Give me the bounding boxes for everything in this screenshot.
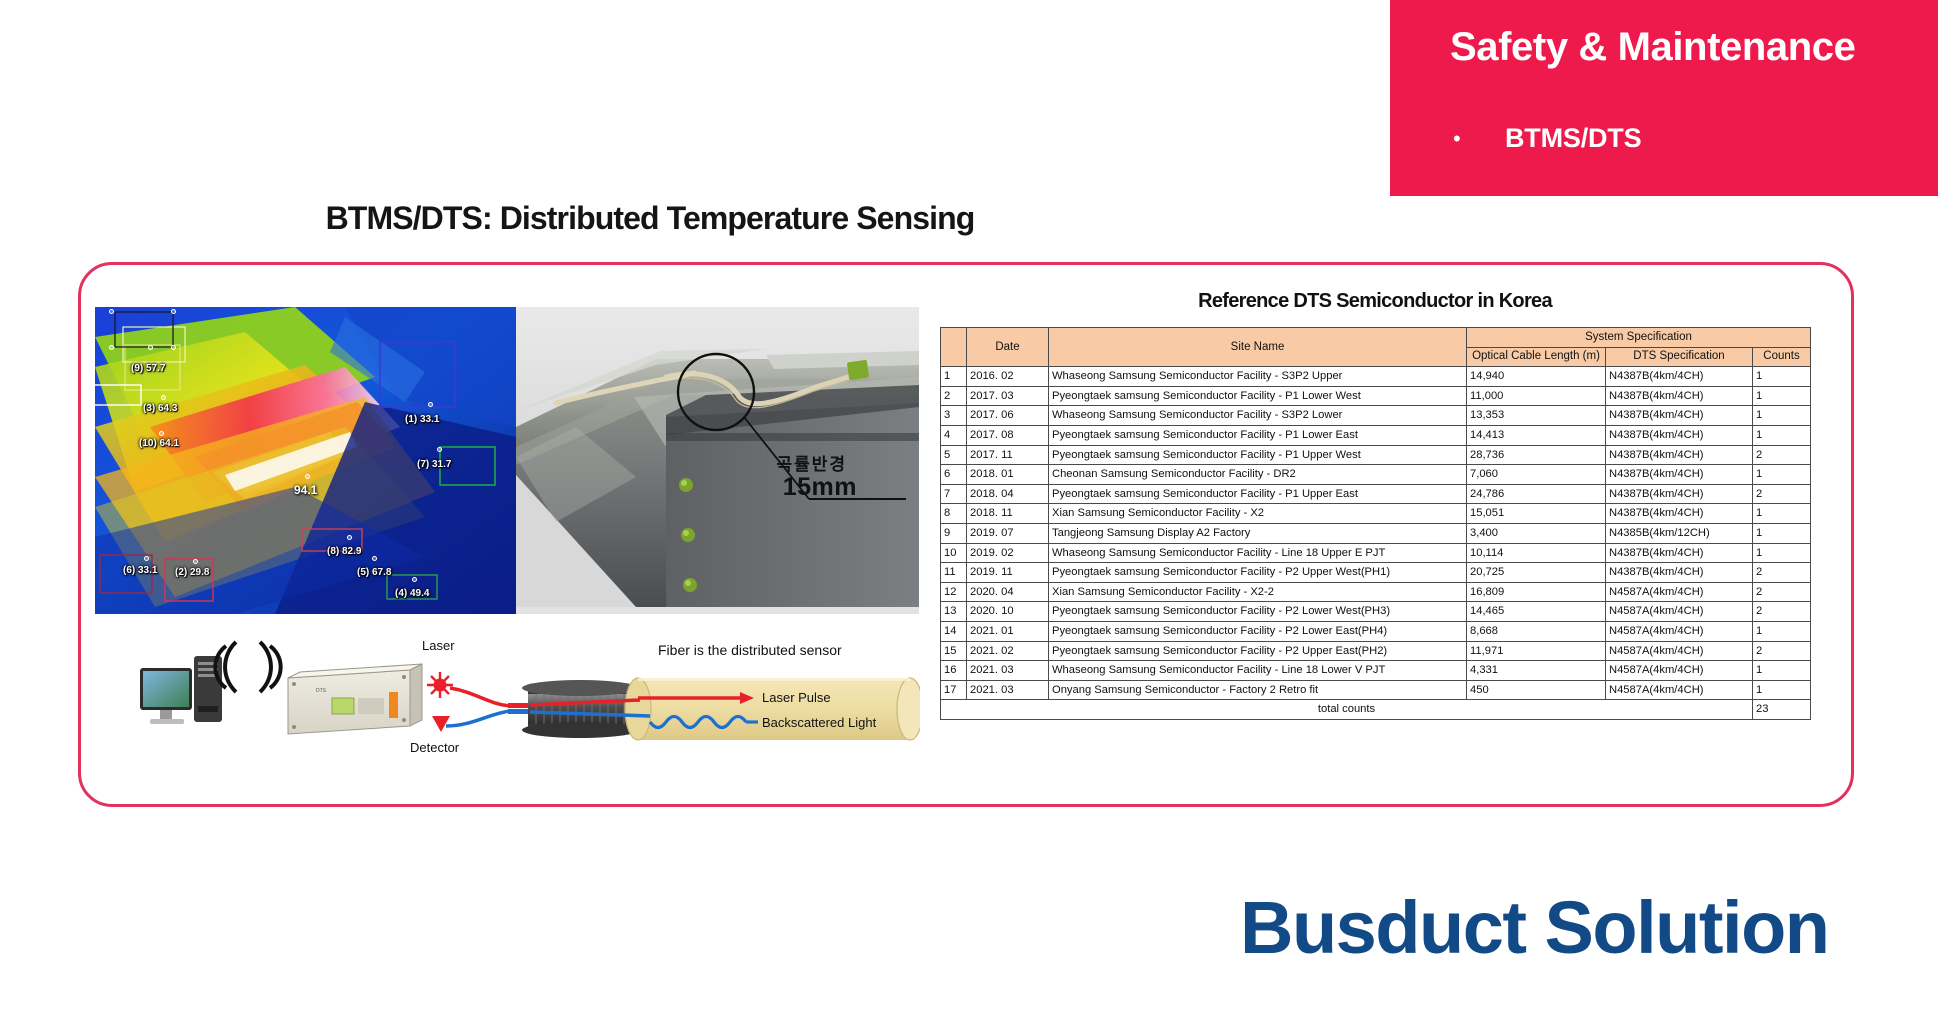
thermal-spot-dot [148,345,153,350]
cell-index: 13 [941,602,967,622]
cell-spec: N4587A(4km/4CH) [1606,680,1753,700]
cell-site: Pyeongtaek samsung Semiconductor Facilit… [1049,621,1467,641]
cell-site: Pyeongtaek samsung Semiconductor Facilit… [1049,484,1467,504]
cell-site: Whaseong Samsung Semiconductor Facility … [1049,367,1467,387]
table-head: Date Site Name System Specification Opti… [941,328,1811,367]
cell-length: 8,668 [1467,621,1606,641]
table-row: 92019. 07Tangjeong Samsung Display A2 Fa… [941,523,1811,543]
cell-date: 2021. 03 [967,680,1049,700]
th-site: Site Name [1049,328,1467,367]
cell-spec: N4387B(4km/4CH) [1606,465,1753,485]
cell-counts: 1 [1753,621,1811,641]
thermal-spot-dot [437,447,442,452]
cell-spec: N4387B(4km/4CH) [1606,563,1753,583]
cell-index: 9 [941,523,967,543]
table-header-row-1: Date Site Name System Specification [941,328,1811,348]
cell-site: Pyeongtaek samsung Semiconductor Facilit… [1049,445,1467,465]
table-row: 32017. 06Whaseong Samsung Semiconductor … [941,406,1811,426]
cell-spec: N4387B(4km/4CH) [1606,367,1753,387]
cell-counts: 1 [1753,661,1811,681]
cell-date: 2020. 10 [967,602,1049,622]
cell-counts: 2 [1753,563,1811,583]
cell-spec: N4587A(4km/4CH) [1606,621,1753,641]
cell-date: 2021. 01 [967,621,1049,641]
cell-counts: 1 [1753,543,1811,563]
th-system-specification: System Specification [1467,328,1811,348]
cell-index: 17 [941,680,967,700]
cell-index: 11 [941,563,967,583]
cell-date: 2017. 08 [967,425,1049,445]
cell-index: 8 [941,504,967,524]
cell-index: 12 [941,582,967,602]
cell-length: 11,000 [1467,386,1606,406]
cell-site: Pyeongtaek samsung Semiconductor Facilit… [1049,425,1467,445]
cell-counts: 1 [1753,425,1811,445]
cell-counts: 1 [1753,465,1811,485]
cell-counts: 1 [1753,680,1811,700]
table-row: 12016. 02Whaseong Samsung Semiconductor … [941,367,1811,387]
cell-spec: N4387B(4km/4CH) [1606,445,1753,465]
detector-label: Detector [410,740,459,755]
thermal-spot-dot [144,556,149,561]
cell-site: Xian Samsung Semiconductor Facility - X2 [1049,504,1467,524]
cell-length: 14,940 [1467,367,1606,387]
cell-site: Onyang Samsung Semiconductor - Factory 2… [1049,680,1467,700]
cell-site: Whaseong Samsung Semiconductor Facility … [1049,543,1467,563]
table-row: 172021. 03Onyang Samsung Semiconductor -… [941,680,1811,700]
cell-length: 11,971 [1467,641,1606,661]
page-title: BTMS/DTS: Distributed Temperature Sensin… [0,200,1300,237]
svg-text:DTS: DTS [316,688,327,694]
cell-index: 7 [941,484,967,504]
slide-canvas: Safety & Maintenance • BTMS/DTS BTMS/DTS… [0,0,1938,1030]
bullet-dot-icon: • [1445,128,1505,150]
cell-length: 24,786 [1467,484,1606,504]
cell-length: 14,465 [1467,602,1606,622]
table-row: 132020. 10Pyeongtaek samsung Semiconduct… [941,602,1811,622]
cell-date: 2017. 03 [967,386,1049,406]
dts-principle-diagram: DTS [110,630,920,775]
cell-spec: N4587A(4km/4CH) [1606,602,1753,622]
fiber-sensor-title: Fiber is the distributed sensor [658,642,842,658]
header-bullet-label: BTMS/DTS [1505,123,1641,154]
cell-length: 4,331 [1467,661,1606,681]
cell-date: 2019. 02 [967,543,1049,563]
cell-index: 3 [941,406,967,426]
cell-site: Cheonan Samsung Semiconductor Facility -… [1049,465,1467,485]
reference-dts-table: Date Site Name System Specification Opti… [940,327,1811,720]
cell-index: 5 [941,445,967,465]
thermal-spot-dot [372,556,377,561]
th-dts-specification: DTS Specification [1606,347,1753,367]
cell-length: 450 [1467,680,1606,700]
cell-counts: 1 [1753,504,1811,524]
cell-site: Pyeongtaek samsung Semiconductor Facilit… [1049,602,1467,622]
thermal-hotspot-value: 94.1 [294,483,317,497]
thermal-spot-dot [428,402,433,407]
thermal-spot-dot [109,309,114,314]
table-body: 12016. 02Whaseong Samsung Semiconductor … [941,367,1811,700]
header-title: Safety & Maintenance [1450,25,1920,70]
cell-counts: 1 [1753,367,1811,387]
cell-counts: 1 [1753,386,1811,406]
cell-spec: N4385B(4km/12CH) [1606,523,1753,543]
cell-length: 3,400 [1467,523,1606,543]
cell-counts: 2 [1753,602,1811,622]
cell-counts: 2 [1753,445,1811,465]
cell-spec: N4387B(4km/4CH) [1606,425,1753,445]
table-row: 52017. 11Pyeongtaek samsung Semiconducto… [941,445,1811,465]
busduct-photo: 곡률반경 15mm [516,307,919,614]
cell-date: 2017. 11 [967,445,1049,465]
cell-date: 2019. 11 [967,563,1049,583]
cell-date: 2017. 06 [967,406,1049,426]
thermal-camera-image: (9) 57.7 (3) 64.3 (10) 64.1 (1) 33.1 (7)… [95,307,516,614]
thermal-spot-dot [171,309,176,314]
th-date: Date [967,328,1049,367]
brand-wordmark: Busduct Solution [1240,885,1930,970]
cell-length: 28,736 [1467,445,1606,465]
table-foot: total counts 23 [941,700,1811,720]
thermal-spot-dot [109,345,114,350]
cell-date: 2021. 03 [967,661,1049,681]
total-counts-row: total counts 23 [941,700,1811,720]
busduct-graphic [516,307,919,614]
radius-annotation-korean: 곡률반경 [776,450,847,475]
cell-index: 6 [941,465,967,485]
thermal-heatmap-graphic [95,307,516,614]
cell-length: 13,353 [1467,406,1606,426]
th-counts: Counts [1753,347,1811,367]
table-row: 62018. 01Cheonan Samsung Semiconductor F… [941,465,1811,485]
cell-date: 2016. 02 [967,367,1049,387]
laser-label: Laser [422,638,455,653]
cell-date: 2021. 02 [967,641,1049,661]
cell-date: 2018. 04 [967,484,1049,504]
header-bullet-item: • BTMS/DTS [1445,123,1915,154]
table-row: 112019. 11Pyeongtaek samsung Semiconduct… [941,563,1811,583]
cell-counts: 2 [1753,641,1811,661]
cell-spec: N4387B(4km/4CH) [1606,504,1753,524]
cell-counts: 1 [1753,523,1811,543]
table-row: 152021. 02Pyeongtaek samsung Semiconduct… [941,641,1811,661]
cell-index: 15 [941,641,967,661]
thermal-spot-dot [193,559,198,564]
cell-index: 16 [941,661,967,681]
total-counts-label: total counts [941,700,1753,720]
cell-spec: N4587A(4km/4CH) [1606,641,1753,661]
cell-site: Pyeongtaek samsung Semiconductor Facilit… [1049,563,1467,583]
table-row: 102019. 02Whaseong Samsung Semiconductor… [941,543,1811,563]
table-row: 82018. 11Xian Samsung Semiconductor Faci… [941,504,1811,524]
thermal-spot-dot [347,535,352,540]
cell-index: 4 [941,425,967,445]
table-row: 42017. 08Pyeongtaek samsung Semiconducto… [941,425,1811,445]
cell-length: 15,051 [1467,504,1606,524]
cell-date: 2020. 04 [967,582,1049,602]
thermal-spot-dot [171,345,176,350]
cell-counts: 2 [1753,484,1811,504]
thermal-spot-dot [159,431,164,436]
radius-annotation-value: 15mm [783,473,857,502]
cell-spec: N4387B(4km/4CH) [1606,484,1753,504]
table-row: 122020. 04Xian Samsung Semiconductor Fac… [941,582,1811,602]
table-title: Reference DTS Semiconductor in Korea [940,290,1810,313]
cell-spec: N4587A(4km/4CH) [1606,582,1753,602]
cell-date: 2018. 11 [967,504,1049,524]
cell-site: Pyeongtaek samsung Semiconductor Facilit… [1049,641,1467,661]
thermal-spot-dot [161,395,166,400]
cell-site: Whaseong Samsung Semiconductor Facility … [1049,406,1467,426]
thermal-spot-dot [412,577,417,582]
cell-length: 14,413 [1467,425,1606,445]
table-row: 22017. 03Pyeongtaek samsung Semiconducto… [941,386,1811,406]
cell-date: 2019. 07 [967,523,1049,543]
backscattered-label: Backscattered Light [762,715,876,730]
laser-pulse-label: Laser Pulse [762,690,831,705]
cell-length: 10,114 [1467,543,1606,563]
table-row: 72018. 04Pyeongtaek samsung Semiconducto… [941,484,1811,504]
cell-index: 1 [941,367,967,387]
th-index [941,328,967,367]
table-row: 142021. 01Pyeongtaek samsung Semiconduct… [941,621,1811,641]
cell-index: 2 [941,386,967,406]
cell-spec: N4587A(4km/4CH) [1606,661,1753,681]
cell-index: 10 [941,543,967,563]
table-row: 162021. 03Whaseong Samsung Semiconductor… [941,661,1811,681]
cell-spec: N4387B(4km/4CH) [1606,406,1753,426]
cell-spec: N4387B(4km/4CH) [1606,386,1753,406]
cell-site: Pyeongtaek samsung Semiconductor Facilit… [1049,386,1467,406]
th-optical-cable-length: Optical Cable Length (m) [1467,347,1606,367]
cell-length: 20,725 [1467,563,1606,583]
cell-date: 2018. 01 [967,465,1049,485]
cell-site: Whaseong Samsung Semiconductor Facility … [1049,661,1467,681]
cell-counts: 1 [1753,406,1811,426]
cell-length: 7,060 [1467,465,1606,485]
cell-site: Tangjeong Samsung Display A2 Factory [1049,523,1467,543]
thermal-spot-dot [305,474,310,479]
cell-length: 16,809 [1467,582,1606,602]
cell-counts: 2 [1753,582,1811,602]
total-counts-value: 23 [1753,700,1811,720]
cell-site: Xian Samsung Semiconductor Facility - X2… [1049,582,1467,602]
cell-index: 14 [941,621,967,641]
cell-spec: N4387B(4km/4CH) [1606,543,1753,563]
